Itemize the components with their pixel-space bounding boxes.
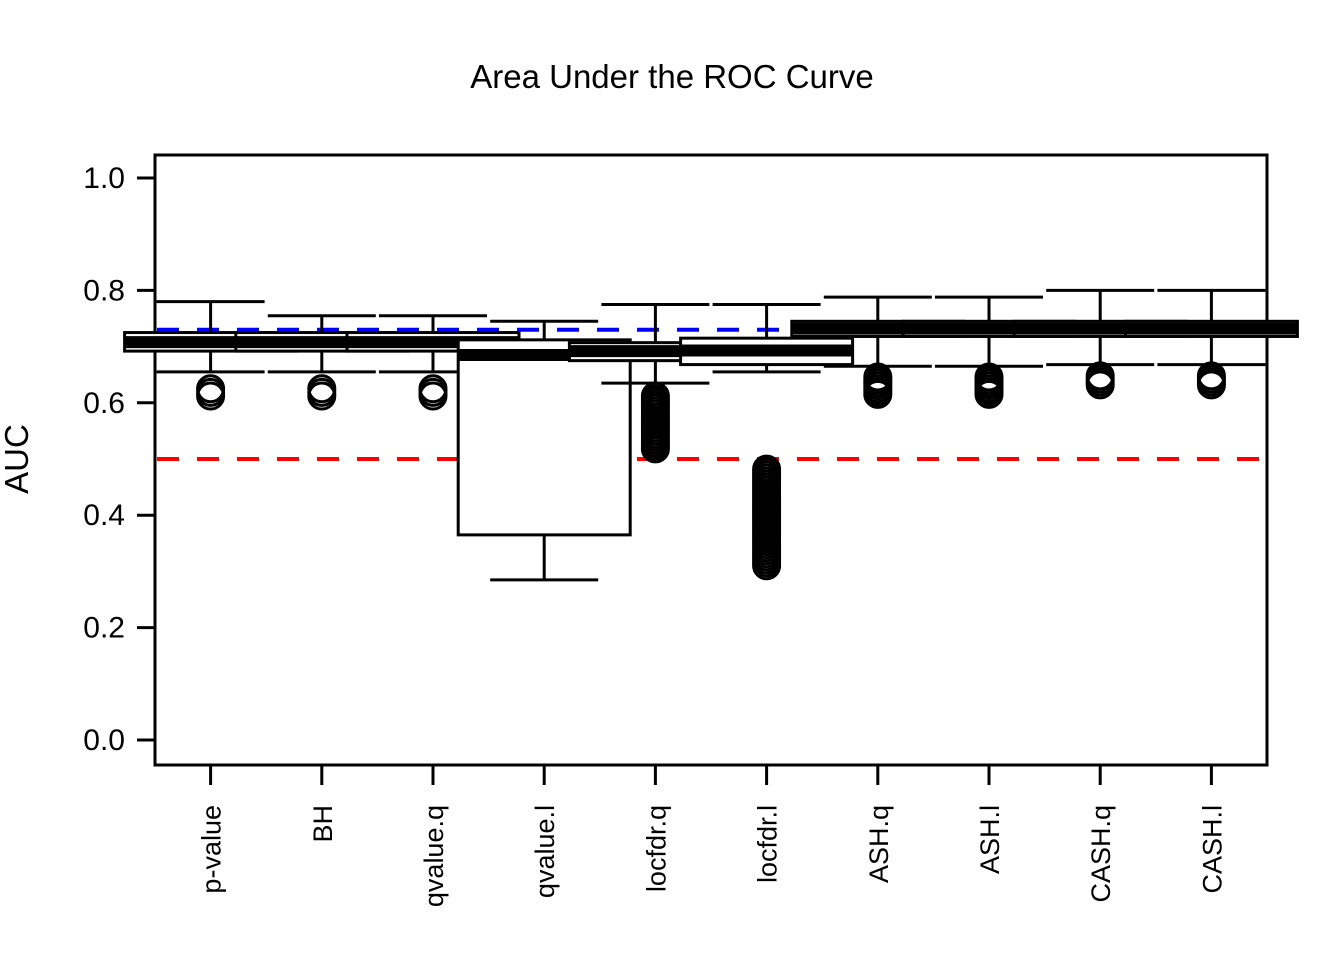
outlier-cluster bbox=[1198, 363, 1224, 398]
x-tick-label: CASH.q bbox=[1086, 805, 1116, 903]
x-tick-label: ASH.l bbox=[975, 805, 1005, 874]
y-tick-label: 0.8 bbox=[83, 274, 125, 307]
y-tick-label: 0.0 bbox=[83, 724, 125, 757]
outlier-cluster bbox=[976, 364, 1002, 407]
box-group bbox=[125, 302, 297, 409]
y-tick-label: 0.6 bbox=[83, 387, 125, 420]
outlier-cluster bbox=[309, 376, 335, 409]
x-tick-label: ASH.q bbox=[864, 805, 894, 883]
y-tick-label: 0.2 bbox=[83, 612, 125, 645]
outlier-cluster bbox=[420, 376, 446, 409]
box-group bbox=[1125, 290, 1297, 397]
box-series bbox=[125, 290, 1298, 579]
x-tick-label: qvalue.l bbox=[530, 805, 560, 898]
box-group bbox=[1014, 290, 1186, 397]
x-tick-label: CASH.l bbox=[1197, 805, 1227, 894]
y-tick-label: 0.4 bbox=[83, 499, 125, 532]
y-tick-label: 1.0 bbox=[83, 162, 125, 195]
box-group bbox=[903, 297, 1075, 407]
x-tick-label: locfdr.q bbox=[641, 805, 671, 892]
x-tick-label: p-value bbox=[197, 805, 227, 894]
figure-canvas: Area Under the ROC Curve AUC 0.00.20.40.… bbox=[0, 0, 1344, 960]
outlier-cluster bbox=[865, 364, 891, 407]
outlier-cluster bbox=[754, 456, 780, 579]
boxplot-svg: 0.00.20.40.60.81.0 p-valueBHqvalue.qqval… bbox=[0, 0, 1344, 960]
y-axis: 0.00.20.40.60.81.0 bbox=[83, 162, 155, 757]
x-tick-label: qvalue.q bbox=[419, 805, 449, 907]
x-tick-label: locfdr.l bbox=[753, 805, 783, 883]
x-tick-label: BH bbox=[308, 805, 338, 843]
box-group bbox=[681, 304, 853, 578]
outlier-cluster bbox=[1087, 363, 1113, 398]
box-group bbox=[236, 316, 408, 409]
outlier-cluster bbox=[642, 383, 668, 462]
box-iqr bbox=[458, 340, 630, 535]
x-axis: p-valueBHqvalue.qqvalue.llocfdr.qlocfdr.… bbox=[197, 765, 1228, 907]
outlier-cluster bbox=[198, 376, 224, 409]
